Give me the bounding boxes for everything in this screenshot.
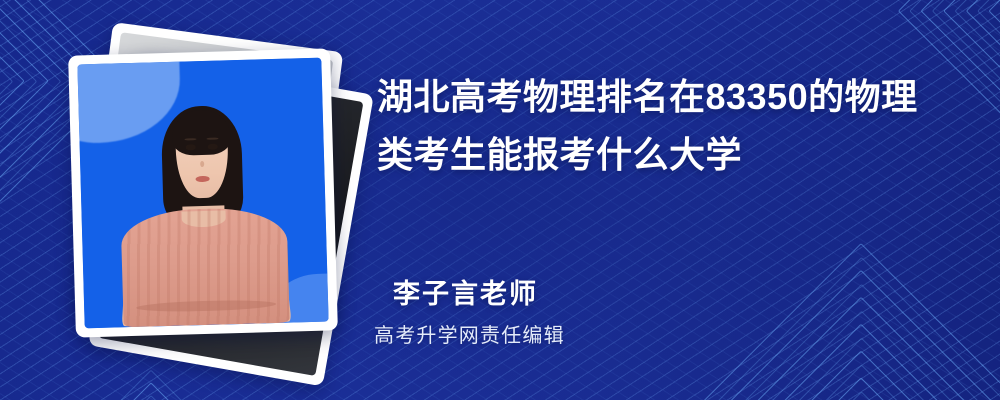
portrait-mouth [195, 176, 210, 182]
chevron-line [10, 370, 293, 400]
banner-text-block: 湖北高考物理排名在83350的物理类考生能报考什么大学 李子言老师 高考升学网责… [374, 0, 974, 400]
photo-card-front [68, 48, 338, 337]
author-portrait-photo [77, 58, 328, 329]
banner-root: 湖北高考物理排名在83350的物理类考生能报考什么大学 李子言老师 高考升学网责… [0, 0, 1000, 400]
portrait-dress [121, 207, 290, 328]
author-role: 高考升学网责任编辑 [374, 319, 565, 348]
photo-card-stack [60, 36, 360, 366]
banner-headline: 湖北高考物理排名在83350的物理类考生能报考什么大学 [377, 68, 947, 185]
portrait-eye-left [186, 145, 196, 151]
portrait-eye-right [208, 144, 218, 150]
author-name: 李子言老师 [393, 272, 538, 311]
